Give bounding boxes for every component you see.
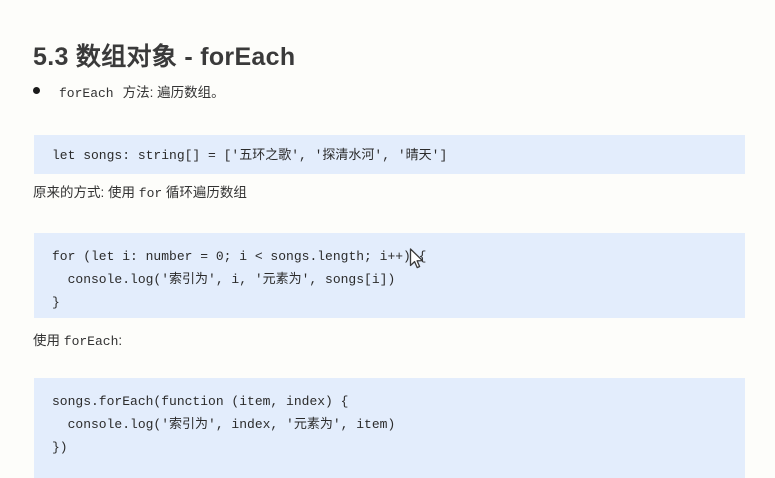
list-item-code-term: forEach (59, 86, 114, 101)
code-block-declare-songs-array[interactable]: let songs: string[] = ['五环之歌', '探清水河', '… (34, 135, 745, 174)
bullet-dot-icon (33, 87, 40, 94)
paragraph-code-term: for (139, 186, 162, 201)
list-item: forEach 方法: 遍历数组。 (33, 81, 225, 101)
paragraph-use-foreach: 使用 forEach: (33, 329, 122, 349)
code-block-for-loop-example[interactable]: for (let i: number = 0; i < songs.length… (34, 233, 745, 318)
document-page: 5.3 数组对象 - forEach forEach 方法: 遍历数组。 let… (0, 0, 775, 465)
list-item-label: 方法: 遍历数组。 (123, 81, 225, 101)
paragraph-code-term: forEach (64, 334, 119, 349)
code-block-foreach-example[interactable]: songs.forEach(function (item, index) { c… (34, 378, 745, 478)
paragraph-suffix: 循环遍历数组 (162, 185, 247, 200)
paragraph-prefix: 使用 (33, 333, 64, 348)
paragraph-suffix: : (118, 333, 122, 348)
paragraph-original-way: 原来的方式: 使用 for 循环遍历数组 (33, 181, 247, 201)
page-title: 5.3 数组对象 - forEach (33, 37, 295, 73)
paragraph-prefix: 原来的方式: 使用 (33, 185, 139, 200)
